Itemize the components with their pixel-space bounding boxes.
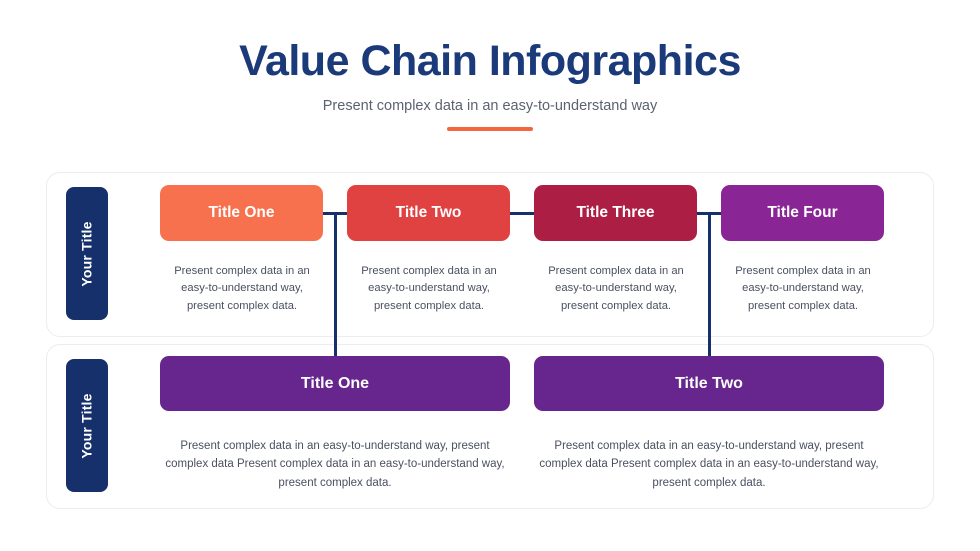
card-title-two[interactable]: Title Two <box>347 185 510 241</box>
accent-divider <box>447 127 533 131</box>
card-bottom-title-one-label: Title One <box>301 375 369 393</box>
card-title-one[interactable]: Title One <box>160 185 323 241</box>
desc-bottom-title-one: Present complex data in an easy-to-under… <box>165 437 505 492</box>
page-header: Value Chain Infographics Present complex… <box>0 0 980 131</box>
infographic-page: Value Chain Infographics Present complex… <box>0 0 980 551</box>
side-tab-top: Your Title <box>66 187 108 320</box>
card-title-three[interactable]: Title Three <box>534 185 697 241</box>
side-tab-bottom-label: Your Title <box>79 393 95 458</box>
side-tab-bottom: Your Title <box>66 359 108 492</box>
side-tab-top-label: Your Title <box>79 221 95 286</box>
card-title-one-label: Title One <box>208 204 274 222</box>
desc-title-two: Present complex data in an easy-to-under… <box>349 263 509 315</box>
desc-title-one: Present complex data in an easy-to-under… <box>162 263 322 315</box>
page-title: Value Chain Infographics <box>0 38 980 85</box>
page-subtitle: Present complex data in an easy-to-under… <box>0 98 980 114</box>
card-bottom-title-one[interactable]: Title One <box>160 356 510 411</box>
card-title-four-label: Title Four <box>767 204 837 222</box>
card-bottom-title-two-label: Title Two <box>675 375 743 393</box>
card-title-four[interactable]: Title Four <box>721 185 884 241</box>
card-bottom-title-two[interactable]: Title Two <box>534 356 884 411</box>
desc-title-four: Present complex data in an easy-to-under… <box>723 263 883 315</box>
card-title-three-label: Title Three <box>576 204 654 222</box>
desc-title-three: Present complex data in an easy-to-under… <box>536 263 696 315</box>
card-title-two-label: Title Two <box>396 204 462 222</box>
desc-bottom-title-two: Present complex data in an easy-to-under… <box>539 437 879 492</box>
